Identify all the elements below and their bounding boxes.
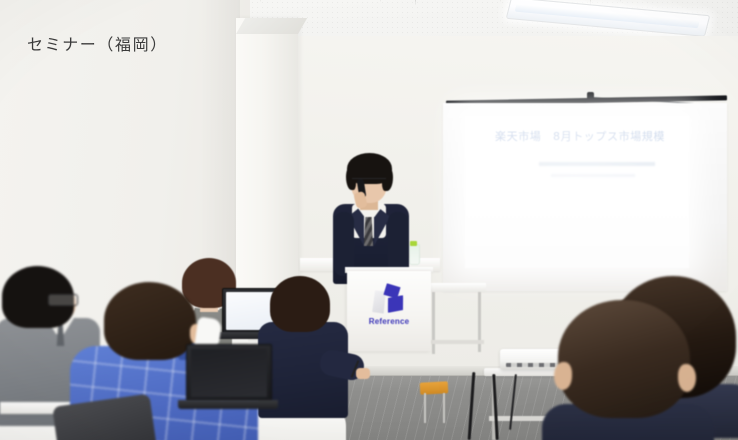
- attendee-ear-left: [554, 362, 572, 390]
- projection-screen: 楽天市場 8月トップス市場規模: [443, 98, 727, 290]
- front-laptop-display: [191, 349, 267, 397]
- wall-pillar-top: [236, 18, 307, 34]
- projected-slide: 楽天市場 8月トップス市場規模: [465, 116, 689, 268]
- seminar-photo: 楽天市場 8月トップス市場規模: [0, 0, 738, 440]
- attendee-hair: [270, 276, 330, 332]
- side-table-shelf: [428, 340, 484, 344]
- presenter-arm-right: [388, 212, 408, 274]
- glasses-icon: [48, 294, 78, 306]
- photo-caption: セミナー（福岡）: [27, 31, 168, 55]
- attendee-hair: [104, 282, 196, 360]
- screen-surface: 楽天市場 8月トップス市場規模: [443, 103, 727, 291]
- attendee-navy-suit: [262, 276, 372, 440]
- attendee-hair: [558, 300, 690, 418]
- side-table: [424, 283, 486, 292]
- slide-title: 楽天市場 8月トップス市場規模: [477, 128, 683, 144]
- attendee-hand: [356, 368, 370, 379]
- slide-subtext-line-2: [551, 174, 635, 177]
- attendee-ear-right: [678, 364, 696, 392]
- side-table-leg-left: [432, 292, 435, 354]
- orange-chair-leg-right: [443, 393, 445, 423]
- reference-logo-icon: [371, 284, 405, 314]
- attendee-front-right-a: [558, 300, 698, 440]
- front-laptop-base: [178, 400, 278, 409]
- slide-subtext-line-1: [539, 162, 655, 166]
- logo-shape-blue-lower: [386, 295, 405, 313]
- orange-chair-leg-left: [424, 393, 426, 423]
- front-laptop-screen: [186, 344, 272, 402]
- presenter: [318, 148, 426, 283]
